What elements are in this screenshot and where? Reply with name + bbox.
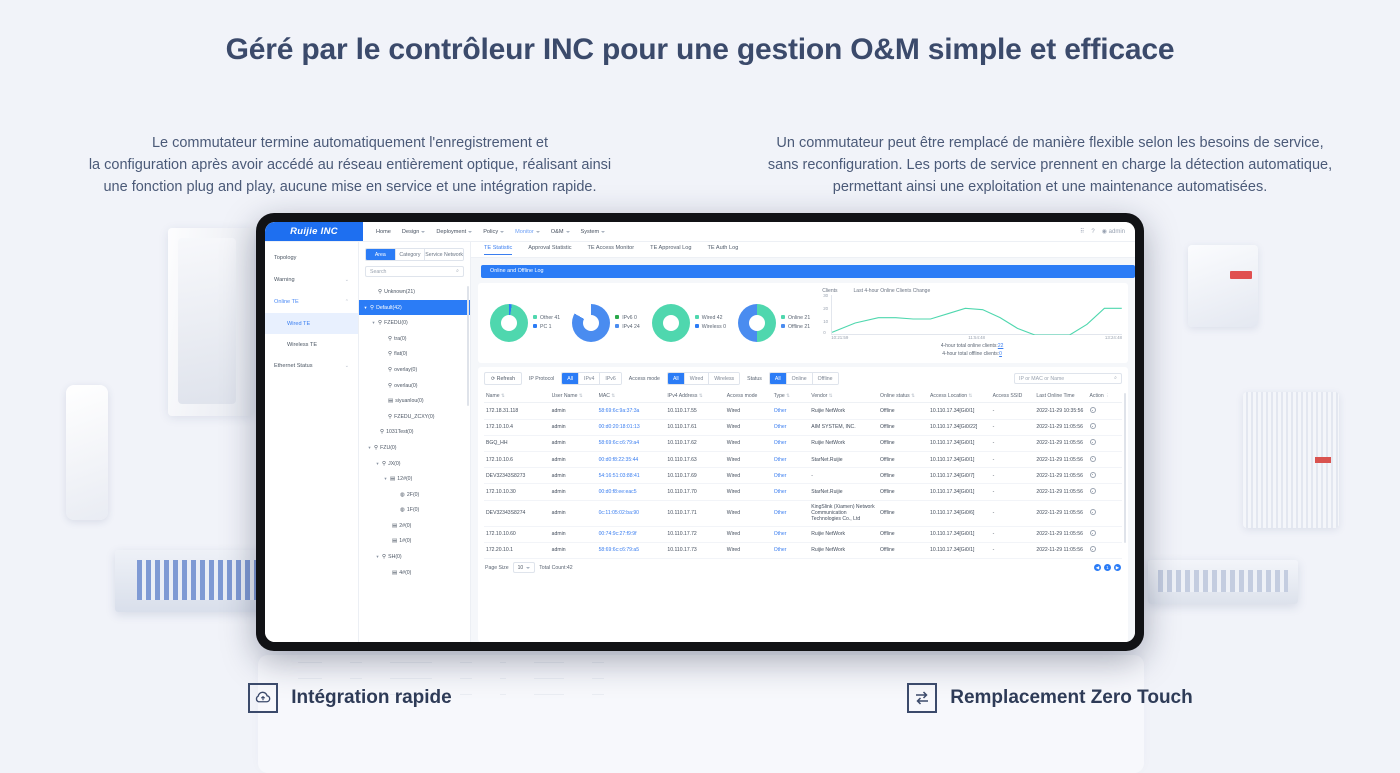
top-nav-label: System [581,229,600,235]
top-nav-item-system[interactable]: System [581,229,606,235]
table-cell-type[interactable]: Other [772,468,810,484]
col-label: MAC [599,393,610,399]
tree-item-label: FZEDU(0) [384,320,408,326]
sidebar-item-label: Warning [274,277,295,283]
page-size-label: Page Size [485,565,509,571]
access-mode-filter[interactable]: All Wired Wireless [667,372,740,385]
col-label: Access Location [930,393,967,399]
table-cell-last-online-time: 2022-11-29 11:05:56 [1034,542,1087,558]
online-total-label: 4-hour total online clients: [941,343,998,349]
sort-icon[interactable]: ⇅ [699,393,703,398]
table-cell-ipv4-address: 10.110.17.73 [665,542,724,558]
table-cell-ipv4-address: 10.110.17.69 [665,468,724,484]
device-photo-ap-3 [1188,245,1258,327]
access-mode-label: Access mode [629,376,660,382]
table-scrollbar[interactable] [1124,393,1126,543]
page-next-button[interactable]: ▶ [1114,564,1121,571]
details-action-icon[interactable] [1090,530,1096,536]
top-nav-item-monitor[interactable]: Monitor [515,229,540,235]
legend-entry: Wired 42 [702,315,723,321]
access-mode-option-wired[interactable]: Wired [685,373,710,384]
tree-item-default[interactable]: ▾⚲Default(42) [359,300,470,316]
table-cell-access-mode: Wired [725,403,772,419]
tab-te-statistic[interactable]: TE Statistic [484,245,512,254]
tree-arrow[interactable]: ▾ [375,461,380,467]
table-cell-mac[interactable]: 00:d0:20:18:01:13 [597,419,666,435]
feature-label: Remplacement Zero Touch [950,687,1192,709]
col-label: Name [486,393,500,399]
col-label: Action [1090,393,1104,399]
table-cell-last-online-time: 2022-11-29 11:05:56 [1034,451,1087,467]
group-icon: ⚲ [378,289,382,295]
table-cell-user-name: admin [550,542,597,558]
pagination[interactable]: ◀ 1 ▶ [1094,564,1121,571]
tree-tab-area[interactable]: Area [366,249,396,260]
tree-arrow[interactable]: ▾ [363,305,368,311]
chart-access-mode: Wired 42 Wireless 0 [646,304,732,342]
table-cell-name: 172.20.10.1 [484,542,550,558]
sort-icon[interactable]: ⇅ [611,393,615,398]
tree-item-label: SH(0) [388,554,402,560]
tree-item-label: 2#(0) [399,523,411,529]
col-online-status[interactable]: Online status ⇅ [878,390,928,403]
y-tick: 10 [823,319,828,324]
app-sidebar: Topology Warning ⌄ Online TE ⌃ Wired TE … [265,242,359,642]
tree-item-label: flat(0) [394,351,407,357]
offline-total-value[interactable]: 0 [999,351,1002,357]
table-cell-last-online-time: 2022-11-29 11:05:56 [1034,435,1087,451]
top-nav-item-policy[interactable]: Policy [483,229,504,235]
top-nav-label: Deployment [436,229,466,235]
group-icon: ⚲ [388,336,392,342]
table-row[interactable]: 172.18.31.118admin58:69:6c:9a:37:3a10.11… [484,403,1122,419]
tablet-device-frame: Ruijie INC Home Design Deployment Policy… [256,213,1144,651]
table-cell-vendor: Ruijie NetWork [809,526,878,542]
tree-item[interactable]: ▤4#(0) [359,565,470,581]
table-cell-type[interactable]: Other [772,419,810,435]
table-cell-online-status: Offline [878,468,928,484]
ip-protocol-label: IP Protocol [529,376,554,382]
sidebar-item-label: Online TE [274,299,299,305]
line-chart-series [832,295,1122,335]
access-mode-option-all[interactable]: All [668,373,685,384]
tree-item[interactable]: ▾⚲FZU(0) [359,440,470,456]
clients-table-card: ⟳ Refresh IP Protocol All IPv4 IPv6 Acce… [478,367,1128,642]
chevron-down-icon [601,231,605,233]
ip-protocol-option-all[interactable]: All [562,373,579,384]
sidebar-item-wired-te[interactable]: Wired TE [265,313,358,334]
table-cell-type[interactable]: Other [772,451,810,467]
building-icon: ▤ [392,538,397,544]
chevron-down-icon: ⌄ [345,363,349,369]
charts-row: Other 41 PC 1 IPv6 0 IPv4 24 [484,288,1122,358]
table-cell-mac[interactable]: 58:69:6c:c6:79:a5 [597,542,666,558]
table-cell-access-mode: Wired [725,542,772,558]
tree-item[interactable]: ⚲overlau(0) [359,378,470,394]
chart-legend: Online 21 Offline 21 [781,314,810,332]
table-cell-mac[interactable]: 58:69:6c:9a:37:3a [597,403,666,419]
table-cell-last-online-time: 2022-11-29 10:35:56 [1034,403,1087,419]
main-content: TE Statistic Approval Statistic TE Acces… [471,242,1135,642]
column-settings-icon[interactable]: ⋮ [1105,393,1110,398]
table-cell-access-mode: Wired [725,500,772,526]
feature-fast-onboarding: Intégration rapide [0,683,700,713]
table-cell-access-mode: Wired [725,451,772,467]
details-action-icon[interactable] [1090,488,1096,494]
tree-tab-group[interactable]: Area Category Service Network [365,248,464,261]
table-cell-online-status: Offline [878,526,928,542]
table-cell-mac[interactable]: 0c:11:05:02:ba:90 [597,500,666,526]
top-nav-label: Home [376,229,391,235]
top-nav-menu[interactable]: Home Design Deployment Policy Monitor O&… [363,222,1080,241]
tab-approval-statistic[interactable]: Approval Statistic [528,245,571,254]
table-row[interactable]: DEV32343S8274admin0c:11:05:02:ba:9010.11… [484,500,1122,526]
tree-item-label: 4#(0) [399,570,411,576]
legend-entry: Online 21 [788,315,810,321]
tree-arrow[interactable]: ▾ [371,320,376,326]
feature-label: Intégration rapide [291,687,451,709]
sidebar-item-online-te[interactable]: Online TE ⌃ [265,291,358,313]
y-tick: 30 [823,293,828,298]
col-last-online-time[interactable]: Last Online Time [1034,390,1087,403]
tree-item[interactable]: ⚲1031Test(0) [359,425,470,441]
col-mac[interactable]: MAC ⇅ [597,390,666,403]
floor-icon: ◍ [400,507,405,513]
col-action: Action ⋮ [1088,390,1122,403]
tree-item[interactable]: ⚲Unknown(21) [359,284,470,300]
tree-scrollbar[interactable] [467,286,469,406]
table-cell-action[interactable] [1088,403,1122,419]
tree-item[interactable]: ⚲FZEDU_ZCXY(0) [359,409,470,425]
top-nav-item-design[interactable]: Design [402,229,425,235]
device-photo-ap-1 [168,228,254,416]
user-account[interactable]: ◉ admin [1102,228,1125,235]
ip-protocol-filter[interactable]: All IPv4 IPv6 [561,372,622,385]
table-cell-type[interactable]: Other [772,526,810,542]
device-photo-ap-4 [1243,392,1339,528]
online-total-value[interactable]: 22 [998,343,1004,349]
tree-item[interactable]: ▾▤12#(0) [359,471,470,487]
tree-item[interactable]: ▾⚲SH(0) [359,549,470,565]
table-cell-name: DEV32343S8273 [484,468,550,484]
tree-item[interactable]: ▤2#(0) [359,518,470,534]
intro-left-text: Le commutateur termine automatiquement l… [20,132,680,198]
table-cell-access-ssid: - [991,526,1035,542]
tree-item-label: JX(0) [388,461,400,467]
legend-entry: Other 41 [540,315,560,321]
tree-search-input[interactable]: Search ⌕ [365,266,464,277]
table-cell-mac[interactable]: 58:69:6c:c6:79:a4 [597,435,666,451]
chevron-down-icon [536,231,540,233]
table-cell-action[interactable] [1088,468,1122,484]
table-cell-online-status: Offline [878,500,928,526]
table-cell-action[interactable] [1088,435,1122,451]
group-icon: ⚲ [388,351,392,357]
details-action-icon[interactable] [1090,456,1096,462]
table-cell-ipv4-address: 10.110.17.61 [665,419,724,435]
tree-tab-category[interactable]: Category [396,249,426,260]
tree-item-label: overlau(0) [394,383,417,389]
table-cell-mac[interactable]: 00:d0:f8:ee:eac5 [597,484,666,500]
line-chart-footnotes: 4-hour total online clients:22 4-hour to… [822,342,1122,358]
table-row[interactable]: BGQ_HHadmin58:69:6c:c6:79:a410.110.17.62… [484,435,1122,451]
table-cell-access-location: 10.110.17.34[Gi0/1] [928,435,991,451]
ip-protocol-option-ipv4[interactable]: IPv4 [579,373,600,384]
table-cell-access-location: 10.110.17.34[Gi0/1] [928,542,991,558]
tree-item[interactable]: ⚲tra(0) [359,331,470,347]
tree-tab-service-network[interactable]: Service Network [425,249,463,260]
group-icon: ⚲ [380,429,384,435]
tree-search-placeholder: Search [370,269,386,275]
sort-icon[interactable]: ⇅ [911,393,915,398]
top-nav-item-deployment[interactable]: Deployment [436,229,472,235]
table-cell-access-mode: Wired [725,468,772,484]
content-tabs[interactable]: TE Statistic Approval Statistic TE Acces… [471,242,1135,258]
table-cell-name: 172.18.31.118 [484,403,550,419]
chevron-up-icon: ⌃ [345,299,349,305]
area-tree[interactable]: ⚲Unknown(21) ▾⚲Default(42) ▾⚲FZEDU(0) ⚲t… [359,282,470,642]
sidebar-item-ethernet-status[interactable]: Ethernet Status ⌄ [265,355,358,377]
table-cell-vendor: Ruijie NetWork [809,403,878,419]
sidebar-item-wireless-te[interactable]: Wireless TE [265,334,358,355]
sidebar-item-topology[interactable]: Topology [265,247,358,269]
statistics-card: Other 41 PC 1 IPv6 0 IPv4 24 [478,283,1128,363]
table-row[interactable]: 172.10.10.6admin00:d0:f8:22:35:4410.110.… [484,451,1122,467]
group-icon: ⚲ [388,414,392,420]
tree-item-label: Default(42) [376,305,402,311]
col-ipv4-address[interactable]: IPv4 Address ⇅ [665,390,724,403]
chevron-down-icon [468,231,472,233]
table-cell-action[interactable] [1088,542,1122,558]
table-cell-type[interactable]: Other [772,435,810,451]
tree-item[interactable]: ▾⚲FZEDU(0) [359,315,470,331]
chevron-down-icon [500,231,504,233]
tree-item-label: 2F(0) [407,492,419,498]
top-bar-actions: ⠿ ? ◉ admin [1080,222,1135,241]
building-icon: ▤ [390,476,395,482]
top-nav-label: Policy [483,229,498,235]
tab-te-auth-log[interactable]: TE Auth Log [708,245,739,254]
details-action-icon[interactable] [1090,509,1096,515]
cloud-upload-icon [248,683,278,713]
table-cell-ipv4-address: 10.110.17.70 [665,484,724,500]
table-cell-type[interactable]: Other [772,484,810,500]
details-action-icon[interactable] [1090,423,1096,429]
tree-item-label: FZEDU_ZCXY(0) [394,414,434,420]
tree-item[interactable]: ⚲flat(0) [359,347,470,363]
tab-te-approval-log[interactable]: TE Approval Log [650,245,691,254]
sort-icon[interactable]: ⇅ [829,393,833,398]
table-cell-access-location: 10.110.17.34[Gi0/22] [928,419,991,435]
table-cell-vendor: Ruijie NetWork [809,542,878,558]
sidebar-item-label: Wired TE [287,321,310,327]
tree-item[interactable]: ▤1#(0) [359,534,470,550]
app-body: Topology Warning ⌄ Online TE ⌃ Wired TE … [265,242,1135,642]
table-row[interactable]: 172.20.10.1admin58:69:6c:c6:79:a510.110.… [484,542,1122,558]
sort-icon[interactable]: ⇅ [579,393,583,398]
building-icon: ▤ [388,398,393,404]
building-icon: ▤ [392,570,397,576]
line-chart-header: Clients Last 4-hour Online Clients Chang… [822,288,1122,294]
col-vendor[interactable]: Vendor ⇅ [809,390,878,403]
ruijie-inc-logo: Ruijie INC [265,222,363,241]
col-access-location[interactable]: Access Location ⇅ [928,390,991,403]
table-cell-user-name: admin [550,435,597,451]
chevron-down-icon [566,231,570,233]
legend-entry: PC 1 [540,324,552,330]
table-cell-action[interactable] [1088,526,1122,542]
table-cell-action[interactable] [1088,484,1122,500]
details-action-icon[interactable] [1090,546,1096,552]
ip-protocol-option-ipv6[interactable]: IPv6 [600,373,620,384]
tree-item-label: overlay(0) [394,367,417,373]
table-cell-vendor: AIM SYSTEM, INC. [809,419,878,435]
details-action-icon[interactable] [1090,407,1096,413]
feature-row: Intégration rapide Remplacement Zero Tou… [0,683,1400,713]
group-icon: ⚲ [382,461,386,467]
top-nav-item-home[interactable]: Home [376,229,391,235]
col-access-ssid[interactable]: Access SSID [991,390,1035,403]
building-icon: ▤ [392,523,397,529]
table-cell-access-ssid: - [991,403,1035,419]
status-filter[interactable]: All Online Offline [769,372,839,385]
col-name[interactable]: Name ⇅ [484,390,550,403]
tree-item[interactable]: ◍1F(0) [359,503,470,519]
table-cell-vendor: StarNet.Ruijie [809,451,878,467]
col-type[interactable]: Type ⇅ [772,390,810,403]
tree-item[interactable]: ⚲overlay(0) [359,362,470,378]
tree-arrow[interactable]: ▾ [375,554,380,560]
tree-arrow[interactable]: ▾ [383,476,388,482]
table-cell-mac[interactable]: 54:16:51:03:88:41 [597,468,666,484]
refresh-button[interactable]: ⟳ Refresh [484,372,522,386]
status-option-offline[interactable]: Offline [813,373,838,384]
tree-item[interactable]: ▾⚲JX(0) [359,456,470,472]
top-nav-label: Monitor [515,229,534,235]
tab-te-access-monitor[interactable]: TE Access Monitor [588,245,635,254]
device-photo-switch-1 [115,550,267,612]
apps-grid-icon[interactable]: ⠿ [1080,228,1084,235]
col-user-name[interactable]: User Name ⇅ [550,390,597,403]
table-row[interactable]: DEV32343S8273admin54:16:51:03:88:4110.11… [484,468,1122,484]
table-cell-access-ssid: - [991,435,1035,451]
sidebar-item-warning[interactable]: Warning ⌄ [265,269,358,291]
table-cell-type[interactable]: Other [772,403,810,419]
donut-chart-ip-protocol [572,304,610,342]
table-cell-online-status: Offline [878,484,928,500]
x-tick: 13:24:48 [1105,335,1122,340]
table-row[interactable]: 172.10.10.4admin00:d0:20:18:01:1310.110.… [484,419,1122,435]
access-mode-option-wireless[interactable]: Wireless [709,373,739,384]
table-header-row: Name ⇅ User Name ⇅ MAC ⇅ IPv4 Address ⇅ … [484,390,1122,403]
tree-item-label: 1031Test(0) [386,429,413,435]
group-icon: ⚲ [388,367,392,373]
table-cell-access-ssid: - [991,419,1035,435]
sort-icon[interactable]: ⇅ [501,393,505,398]
page-prev-button[interactable]: ◀ [1094,564,1101,571]
tree-item-label: 1#(0) [399,538,411,544]
feature-zero-touch-replacement: Remplacement Zero Touch [700,683,1400,713]
search-icon[interactable]: ⌕ [1114,375,1117,382]
chevron-down-icon [526,567,530,569]
top-nav-item-oam[interactable]: O&M [551,229,570,235]
table-cell-name: 172.10.10.6 [484,451,550,467]
page-size-select[interactable]: 10 [513,562,536,573]
status-option-online[interactable]: Online [787,373,813,384]
help-icon[interactable]: ? [1091,229,1094,235]
sort-icon[interactable]: ⇅ [969,393,973,398]
tree-item[interactable]: ◍2F(0) [359,487,470,503]
area-tree-panel: Area Category Service Network Search ⌕ ⚲… [359,242,471,642]
table-cell-user-name: admin [550,403,597,419]
table-cell-ipv4-address: 10.110.17.55 [665,403,724,419]
table-cell-last-online-time: 2022-11-29 11:05:56 [1034,500,1087,526]
table-cell-action[interactable] [1088,419,1122,435]
table-cell-access-location: 10.110.17.34[Gi0/1] [928,526,991,542]
online-offline-log-button[interactable]: Online and Offline Log [481,265,1135,278]
table-cell-name: DEV32343S8274 [484,500,550,526]
chevron-down-icon [421,231,425,233]
swap-arrows-icon [907,683,937,713]
table-cell-access-ssid: - [991,500,1035,526]
col-label: Last Online Time [1036,393,1074,399]
table-cell-ipv4-address: 10.110.17.72 [665,526,724,542]
app-top-bar: Ruijie INC Home Design Deployment Policy… [265,222,1135,242]
tree-item[interactable]: ▤siyuanlou(0) [359,393,470,409]
details-action-icon[interactable] [1090,439,1096,445]
table-cell-mac[interactable]: 00:74:9c:27:f9:9f [597,526,666,542]
status-option-all[interactable]: All [770,373,787,384]
table-search-input[interactable]: IP or MAC or Name ⌕ [1014,373,1122,384]
table-cell-access-ssid: - [991,451,1035,467]
page-title: Géré par le contrôleur INC pour une gest… [0,0,1400,67]
table-search-placeholder: IP or MAC or Name [1019,376,1064,382]
sort-icon[interactable]: ⇅ [786,393,790,398]
intro-left: Le commutateur termine automatiquement l… [0,132,700,198]
chart-legend: Wired 42 Wireless 0 [695,314,726,332]
col-access-mode[interactable]: Access mode [725,390,772,403]
table-cell-type[interactable]: Other [772,542,810,558]
floor-icon: ◍ [400,492,405,498]
page-1-button[interactable]: 1 [1104,564,1111,571]
table-cell-access-location: 10.110.17.34[Gi0/1] [928,484,991,500]
table-cell-online-status: Offline [878,435,928,451]
sidebar-item-label: Ethernet Status [274,363,313,369]
offline-total-label: 4-hour total offline clients: [942,351,999,357]
total-count: Total Count:42 [539,565,572,571]
table-cell-action[interactable] [1088,451,1122,467]
table-cell-action[interactable] [1088,500,1122,526]
search-icon[interactable]: ⌕ [456,268,459,275]
donut-chart-access-mode [652,304,690,342]
chart-ip-protocol: IPv6 0 IPv4 24 [566,304,646,342]
top-nav-label: Design [402,229,419,235]
table-cell-mac[interactable]: 00:d0:f8:22:35:44 [597,451,666,467]
table-row[interactable]: 172.10.10.30admin00:d0:f8:ee:eac510.110.… [484,484,1122,500]
tree-arrow[interactable]: ▾ [367,445,372,451]
details-action-icon[interactable] [1090,472,1096,478]
refresh-label: Refresh [497,376,515,382]
table-cell-name: 172.10.10.4 [484,419,550,435]
table-cell-type[interactable]: Other [772,500,810,526]
tree-item-label: FZU(0) [380,445,396,451]
chart-online-clients-trend: Clients Last 4-hour Online Clients Chang… [816,288,1122,358]
table-row[interactable]: 172.10.10.60admin00:74:9c:27:f9:9f10.110… [484,526,1122,542]
table-cell-vendor: Ruijie NetWork [809,435,878,451]
table-cell-online-status: Offline [878,419,928,435]
tree-item-label: siyuanlou(0) [395,398,423,404]
table-cell-name: BGQ_HH [484,435,550,451]
